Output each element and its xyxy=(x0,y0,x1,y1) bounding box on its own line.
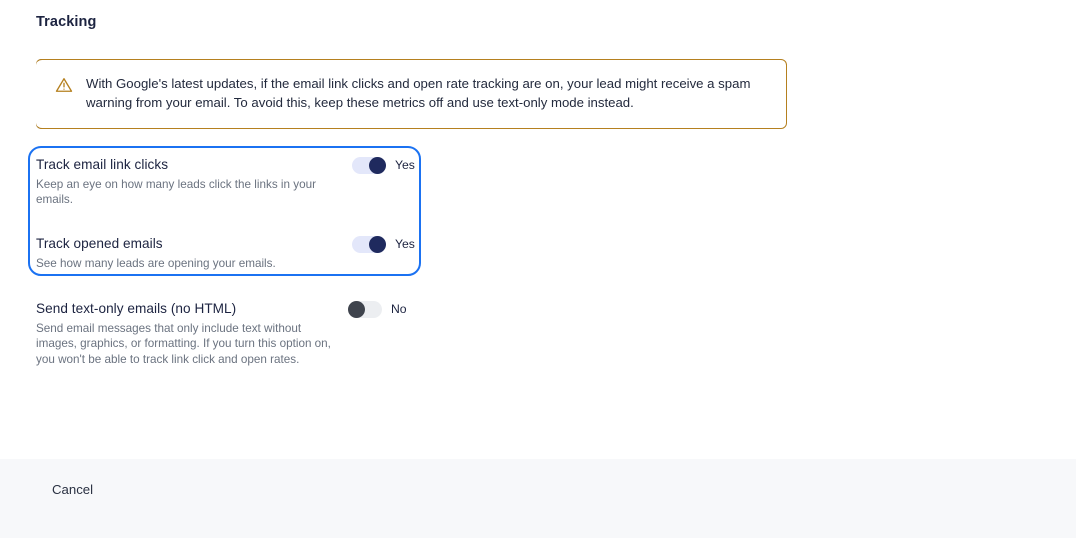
setting-title: Track opened emails xyxy=(36,235,326,253)
warning-banner: With Google's latest updates, if the ema… xyxy=(36,59,787,129)
setting-description: See how many leads are opening your emai… xyxy=(36,256,326,271)
toggle-knob xyxy=(369,157,386,174)
setting-title: Send text-only emails (no HTML) xyxy=(36,300,336,318)
setting-description: Send email messages that only include te… xyxy=(36,321,336,367)
toggle-track-email-link-clicks-wrap[interactable]: Yes xyxy=(352,157,415,174)
toggle-knob xyxy=(369,236,386,253)
setting-send-text-only-emails: Send text-only emails (no HTML) Send ema… xyxy=(36,300,336,367)
setting-track-opened-emails: Track opened emails See how many leads a… xyxy=(36,235,326,271)
toggle-send-text-only-emails-wrap[interactable]: No xyxy=(348,301,407,318)
footer-bar xyxy=(0,459,1076,538)
toggle-knob xyxy=(348,301,365,318)
toggle-state-label: No xyxy=(391,301,407,318)
warning-triangle-icon xyxy=(54,75,74,95)
toggle-track-opened-emails[interactable] xyxy=(352,236,386,253)
toggle-send-text-only-emails[interactable] xyxy=(348,301,382,318)
toggle-track-opened-emails-wrap[interactable]: Yes xyxy=(352,236,415,253)
toggle-state-label: Yes xyxy=(395,157,415,174)
page-title: Tracking xyxy=(36,14,96,30)
setting-track-email-link-clicks: Track email link clicks Keep an eye on h… xyxy=(36,156,326,208)
toggle-track-email-link-clicks[interactable] xyxy=(352,157,386,174)
cancel-button[interactable]: Cancel xyxy=(52,482,93,497)
toggle-state-label: Yes xyxy=(395,236,415,253)
setting-description: Keep an eye on how many leads click the … xyxy=(36,177,326,208)
tracking-settings-page: Tracking With Google's latest updates, i… xyxy=(0,0,1076,538)
warning-message: With Google's latest updates, if the ema… xyxy=(86,74,770,112)
setting-title: Track email link clicks xyxy=(36,156,326,174)
